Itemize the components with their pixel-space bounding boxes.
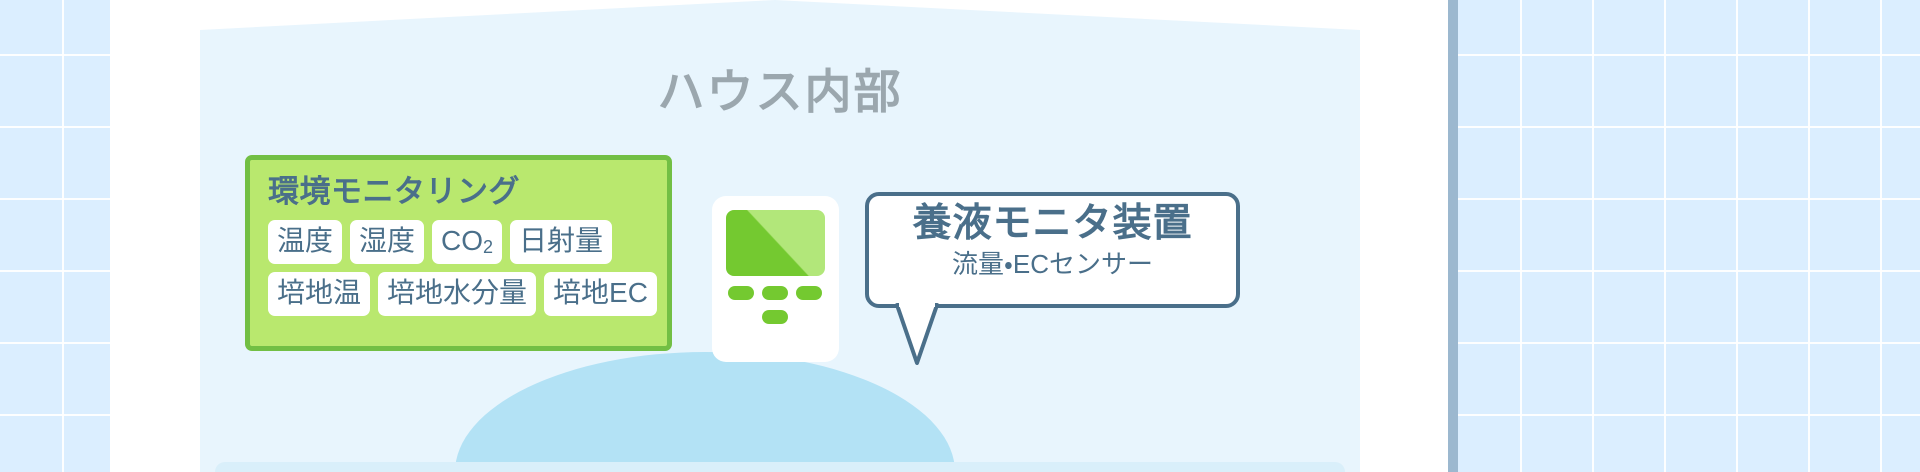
device-button-1-icon (728, 286, 754, 300)
sensor-tag-co2: CO2 (432, 220, 502, 264)
environment-monitoring-card: 環境モニタリング 温度 湿度 CO2 日射量 培地温 培地水分量 培地EC (245, 155, 672, 351)
device-button-2-icon (762, 286, 788, 300)
sensor-tag-solar-radiation: 日射量 (510, 220, 612, 264)
page-title: ハウス内部 (600, 66, 960, 118)
sensor-tag-humidity: 湿度 (350, 220, 424, 264)
grid-background-right (1458, 0, 1920, 472)
grid-background-left (0, 0, 110, 472)
greenhouse-infographic: ハウス内部 環境モニタリング 温度 湿度 CO2 日射量 培地温 培地水分量 培… (0, 0, 1920, 472)
sensor-tag-temperature: 温度 (268, 220, 342, 264)
device-button-3-icon (796, 286, 822, 300)
ground-strip (215, 462, 1345, 472)
monitoring-card-title: 環境モニタリング (268, 174, 651, 210)
sensor-tag-row-1: 温度 湿度 CO2 日射量 (268, 220, 651, 264)
callout-title: 養液モニタ装置 (869, 202, 1236, 247)
sensor-tag-media-ec: 培地EC (544, 272, 657, 316)
sensor-tag-co2-text: CO (441, 225, 483, 256)
nutrient-monitor-callout: 養液モニタ装置 流量・ECセンサー (865, 192, 1240, 308)
callout-tail-icon (895, 303, 939, 365)
sensor-tag-media-moisture: 培地水分量 (378, 272, 536, 316)
callout-subtitle: 流量・ECセンサー (869, 249, 1236, 280)
sensor-tag-co2-subscript: 2 (483, 237, 493, 257)
nutrient-monitor-device (712, 196, 839, 362)
device-screen-icon (726, 210, 825, 276)
panel-divider-bar (1448, 0, 1458, 472)
sensor-tag-media-temperature: 培地温 (268, 272, 370, 316)
sensor-tag-row-2: 培地温 培地水分量 培地EC (268, 272, 651, 316)
device-button-4-icon (762, 310, 788, 324)
